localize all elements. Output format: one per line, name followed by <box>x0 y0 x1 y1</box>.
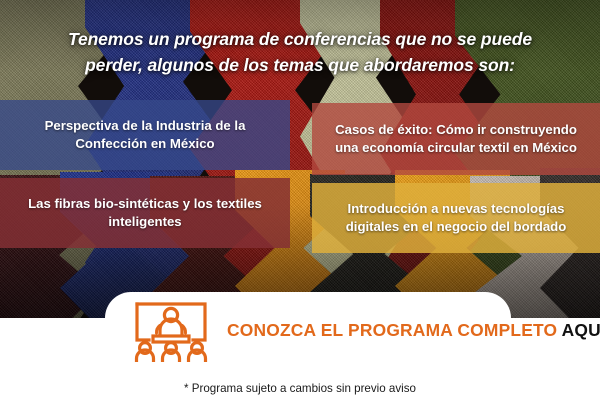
headline-line-1: Tenemos un programa de conferencias que … <box>22 26 578 52</box>
topic-card-tecnologias-digitales-bordado[interactable]: Introducción a nuevas tecnologías digita… <box>312 183 600 253</box>
topic-card-label: Las fibras bio-sintéticas y los textiles… <box>14 195 276 232</box>
banner-headline: Tenemos un programa de conferencias que … <box>0 26 600 78</box>
headline-line-2: perder, algunos de los temas que abordar… <box>22 52 578 78</box>
topic-card-label: Perspectiva de la Industria de la Confec… <box>14 117 276 154</box>
cta-label: CONOZCA EL PROGRAMA COMPLETO AQUÍ <box>227 318 600 344</box>
cta-program-link[interactable]: CONOZCA EL PROGRAMA COMPLETO AQUÍ <box>105 292 511 370</box>
topic-card-casos-de-exito-economia-circular[interactable]: Casos de éxito: Cómo ir construyendo una… <box>312 103 600 175</box>
footnote-disclaimer: * Programa sujeto a cambios sin previo a… <box>0 382 600 395</box>
topic-card-label: Introducción a nuevas tecnologías digita… <box>326 200 586 237</box>
cta-label-highlight: AQUÍ <box>562 320 600 340</box>
conference-audience-icon <box>129 300 213 362</box>
topic-card-label: Casos de éxito: Cómo ir construyendo una… <box>326 121 586 158</box>
conference-program-banner: Tenemos un programa de conferencias que … <box>0 0 600 409</box>
cta-label-main: CONOZCA EL PROGRAMA COMPLETO <box>227 320 562 340</box>
topic-card-perspectiva-industria-confeccion[interactable]: Perspectiva de la Industria de la Confec… <box>0 100 290 170</box>
topic-card-fibras-bio-sinteticas[interactable]: Las fibras bio-sintéticas y los textiles… <box>0 178 290 248</box>
